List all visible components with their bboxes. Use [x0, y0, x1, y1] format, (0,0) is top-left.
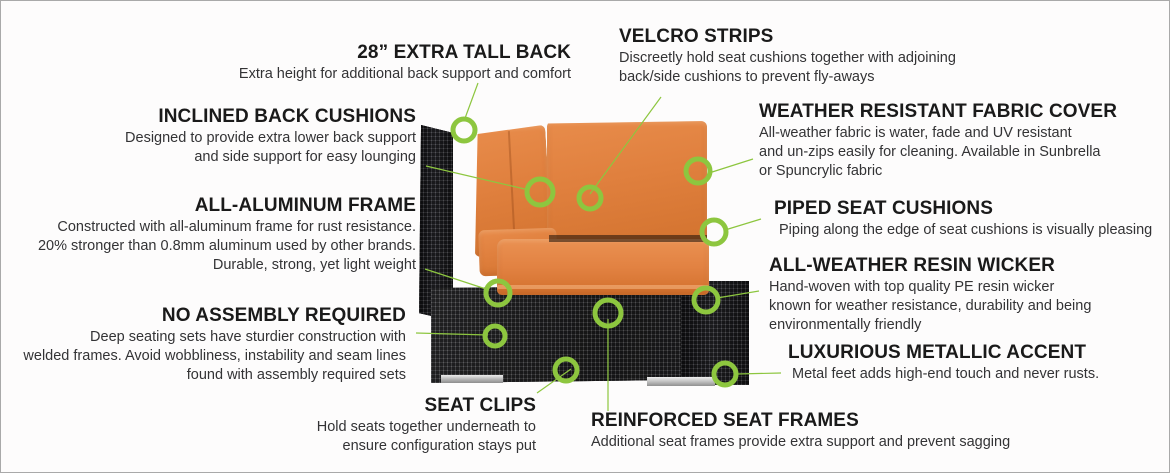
cushion-shadow-gap	[549, 235, 707, 242]
callout-body: Metal feet adds high-end touch and never…	[788, 365, 1168, 384]
base-right-panel	[681, 281, 749, 385]
callout-reinforced-seat-frames: REINFORCED SEAT FRAMES Additional seat f…	[591, 409, 1061, 452]
callout-body: Constructed with all-aluminum frame for …	[31, 218, 416, 275]
seat-cushion-piping	[497, 285, 709, 289]
feature-callout-diagram: 28” EXTRA TALL BACK Extra height for add…	[0, 0, 1170, 473]
callout-title: PIPED SEAT CUSHIONS	[774, 197, 1164, 221]
callout-title: INCLINED BACK CUSHIONS	[41, 105, 416, 129]
callout-title: SEAT CLIPS	[161, 394, 536, 418]
callout-seat-clips: SEAT CLIPS Hold seats together underneat…	[161, 394, 536, 456]
callout-title: LUXURIOUS METALLIC ACCENT	[788, 341, 1168, 365]
callout-title: WEATHER RESISTANT FABRIC COVER	[759, 100, 1159, 124]
callout-title: 28” EXTRA TALL BACK	[161, 41, 571, 65]
callout-title: ALL-WEATHER RESIN WICKER	[769, 254, 1164, 278]
callout-body: Deep seating sets have sturdier construc…	[19, 328, 406, 385]
callout-body: Additional seat frames provide extra sup…	[591, 433, 1061, 452]
callout-body: All-weather fabric is water, fade and UV…	[759, 124, 1159, 181]
callout-title: REINFORCED SEAT FRAMES	[591, 409, 1061, 433]
callout-body: Hold seats together underneath to ensure…	[161, 418, 536, 456]
callout-inclined-back-cushions: INCLINED BACK CUSHIONS Designed to provi…	[41, 105, 416, 167]
callout-title: ALL-ALUMINUM FRAME	[31, 194, 416, 218]
callout-body: Piping along the edge of seat cushions i…	[774, 221, 1164, 240]
callout-body: Discreetly hold seat cushions together w…	[619, 49, 1019, 87]
callout-title: NO ASSEMBLY REQUIRED	[19, 304, 406, 328]
callout-piped-seat-cushions: PIPED SEAT CUSHIONS Piping along the edg…	[774, 197, 1164, 240]
patio-corner-chair-illustration	[419, 113, 749, 401]
metal-foot-left	[441, 375, 503, 383]
callout-weather-resistant-fabric-cover: WEATHER RESISTANT FABRIC COVER All-weath…	[759, 100, 1159, 181]
main-back-cushion	[547, 121, 707, 243]
callout-all-aluminum-frame: ALL-ALUMINUM FRAME Constructed with all-…	[31, 194, 416, 275]
callout-body: Extra height for additional back support…	[161, 65, 571, 84]
callout-all-weather-resin-wicker: ALL-WEATHER RESIN WICKER Hand-woven with…	[769, 254, 1164, 335]
callout-luxurious-metallic-accent: LUXURIOUS METALLIC ACCENT Metal feet add…	[788, 341, 1168, 384]
callout-body: Designed to provide extra lower back sup…	[41, 129, 416, 167]
metal-foot-right	[647, 377, 715, 386]
callout-body: Hand-woven with top quality PE resin wic…	[769, 278, 1164, 335]
callout-velcro-strips: VELCRO STRIPS Discreetly hold seat cushi…	[619, 25, 1019, 87]
callout-no-assembly-required: NO ASSEMBLY REQUIRED Deep seating sets h…	[19, 304, 406, 385]
callout-title: VELCRO STRIPS	[619, 25, 1019, 49]
callout-extra-tall-back: 28” EXTRA TALL BACK Extra height for add…	[161, 41, 571, 84]
